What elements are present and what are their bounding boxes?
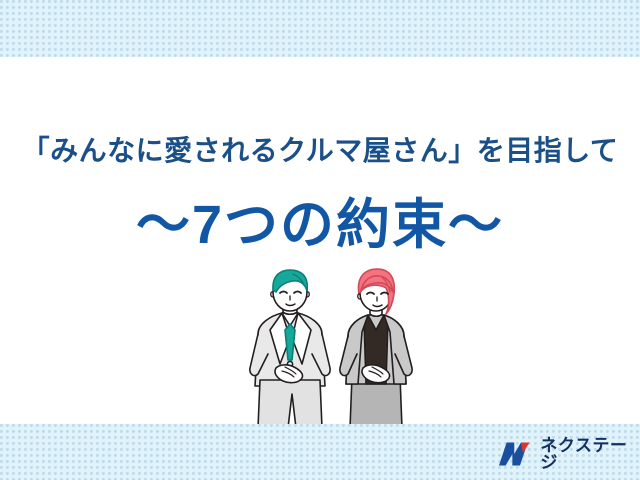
- brand-logo: ネクステージ: [498, 437, 640, 471]
- nexstage-n-mark-icon: [498, 441, 534, 467]
- staff-illustration: [236, 268, 428, 428]
- top-dot-band: [0, 0, 640, 57]
- female-staff-figure: [340, 269, 412, 428]
- staff-illustration-svg: [236, 268, 428, 428]
- headline-primary: 「みんなに愛されるクルマ屋さん」を目指して: [0, 129, 640, 169]
- male-staff-figure: [250, 270, 330, 428]
- promo-banner: 「みんなに愛されるクルマ屋さん」を目指して 〜7つの約束〜: [0, 0, 640, 480]
- brand-logo-text: ネクステージ: [540, 437, 640, 471]
- headline-secondary: 〜7つの約束〜: [0, 180, 640, 259]
